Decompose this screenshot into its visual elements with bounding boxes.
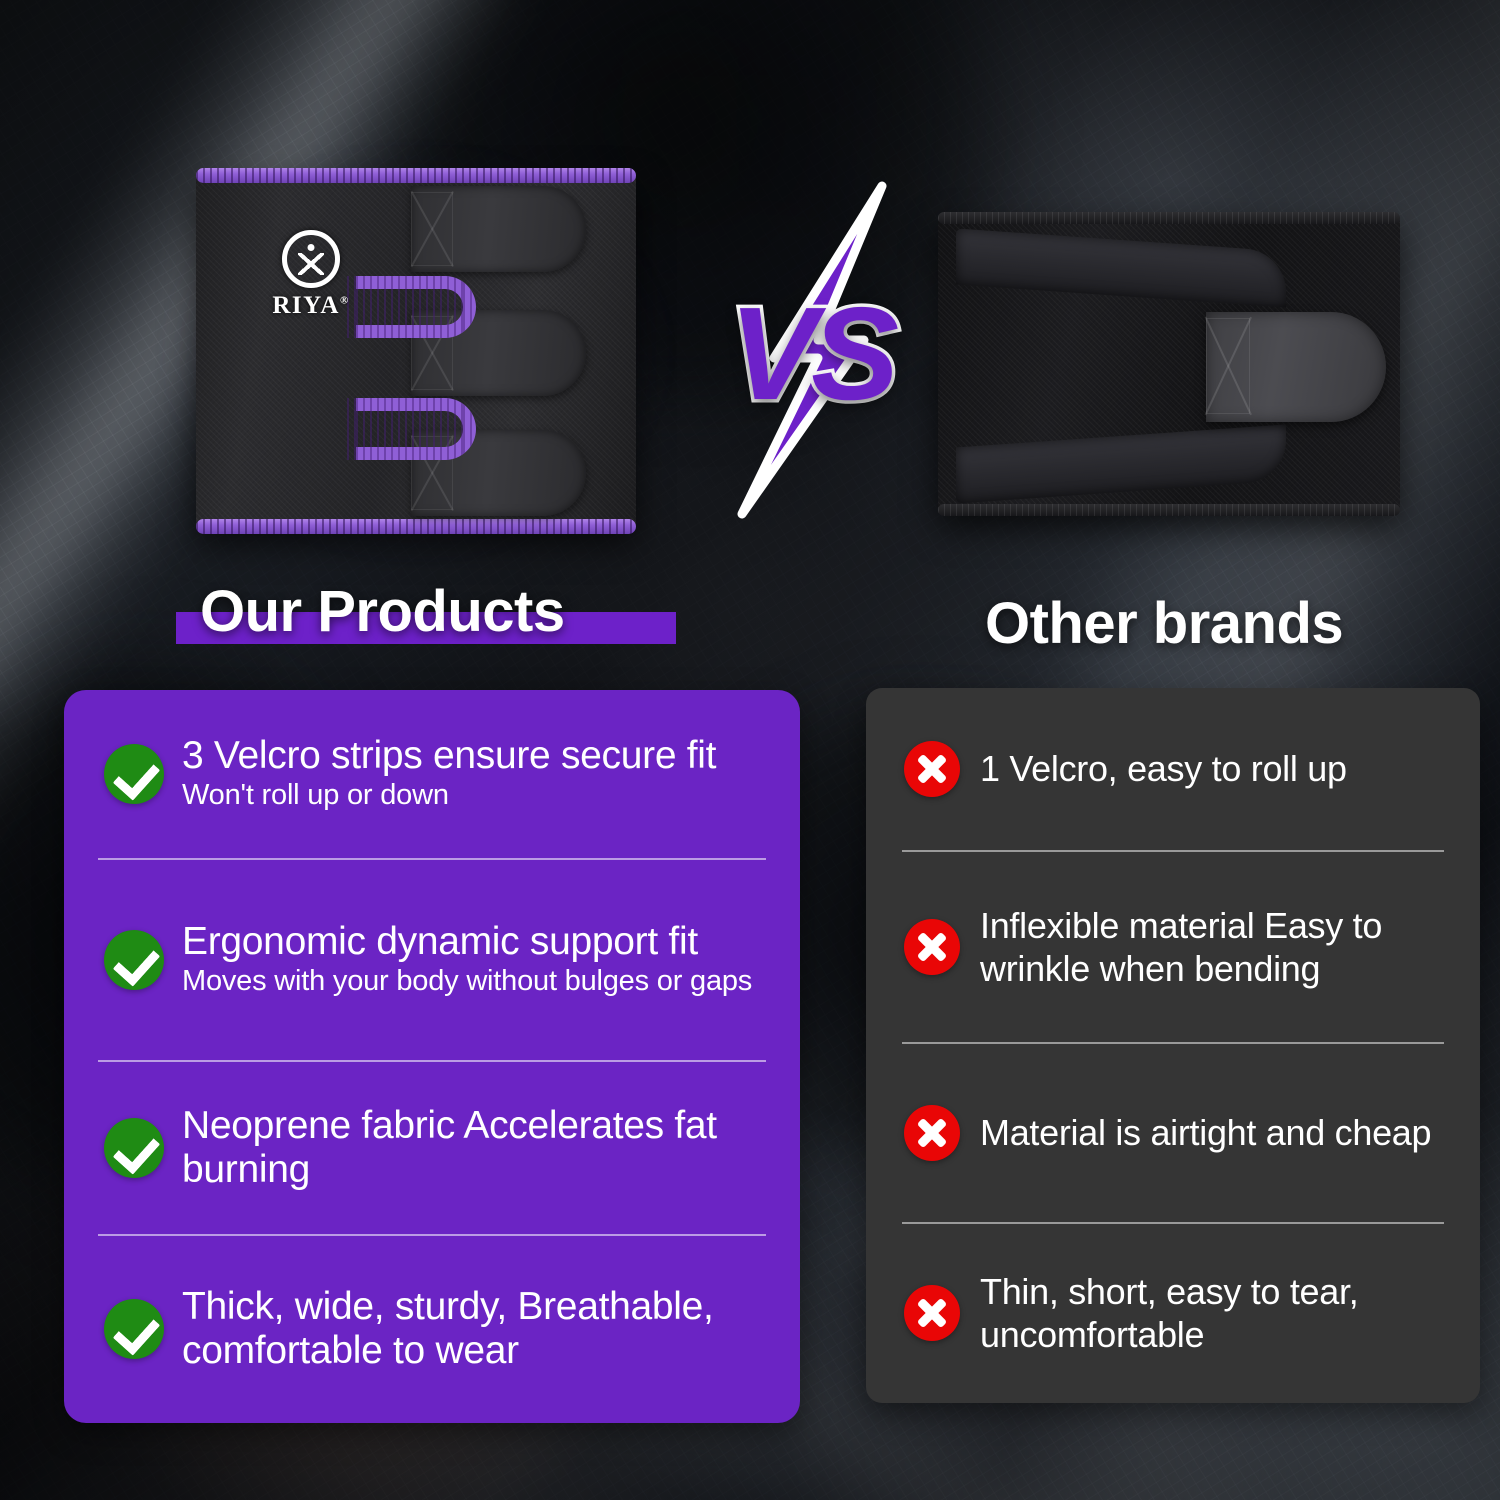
drawback-texts: Thin, short, easy to tear, uncomfortable <box>976 1270 1458 1356</box>
our-product-image: RIYA® <box>196 172 636 530</box>
feature-row: Ergonomic dynamic support fit Moves with… <box>90 860 774 1060</box>
x-icon <box>904 1285 960 1341</box>
other-belt-body <box>938 214 1400 514</box>
check-icon-wrap <box>90 1299 178 1359</box>
other-product-image <box>938 214 1400 514</box>
feature-row: 3 Velcro strips ensure secure fit Won't … <box>90 690 774 858</box>
x-icon-wrap <box>888 1105 976 1161</box>
check-icon <box>104 744 164 804</box>
drawback-row: Thin, short, easy to tear, uncomfortable <box>888 1224 1458 1402</box>
feature-texts: Ergonomic dynamic support fit Moves with… <box>178 920 774 999</box>
brand-name: RIYA® <box>268 292 354 320</box>
purple-trim-bottom <box>196 519 636 534</box>
feature-subtitle: Won't roll up or down <box>182 778 774 813</box>
our-products-panel: 3 Velcro strips ensure secure fit Won't … <box>64 690 800 1423</box>
feature-title: Ergonomic dynamic support fit <box>182 920 774 964</box>
product-comparison-row: RIYA® VS <box>0 0 1500 560</box>
other-brands-panel: 1 Velcro, easy to roll up Inflexible mat… <box>866 688 1480 1403</box>
x-icon <box>904 741 960 797</box>
feature-texts: Thick, wide, sturdy, Breathable, comfort… <box>178 1285 774 1373</box>
belt-body: RIYA® <box>196 172 636 530</box>
belt-edge-bottom <box>938 504 1400 516</box>
drawback-title: Thin, short, easy to tear, uncomfortable <box>980 1270 1458 1356</box>
drawback-title: Material is airtight and cheap <box>980 1111 1458 1154</box>
check-icon-wrap <box>90 930 178 990</box>
feature-title: Neoprene fabric Accelerates fat burning <box>182 1104 774 1192</box>
brand-superscript: ® <box>340 295 350 307</box>
feature-title: Thick, wide, sturdy, Breathable, comfort… <box>182 1285 774 1373</box>
drawback-title: Inflexible material Easy to wrinkle when… <box>980 904 1458 990</box>
velcro-strip <box>411 186 586 272</box>
feature-title: 3 Velcro strips ensure secure fit <box>182 734 774 778</box>
other-brands-heading: Other brands <box>985 590 1343 657</box>
x-icon <box>904 919 960 975</box>
feature-row: Neoprene fabric Accelerates fat burning <box>90 1062 774 1234</box>
feature-texts: 3 Velcro strips ensure secure fit Won't … <box>178 734 774 813</box>
drawback-texts: Material is airtight and cheap <box>976 1111 1458 1154</box>
check-icon <box>104 1299 164 1359</box>
vs-badge: VS <box>706 180 916 520</box>
check-icon-wrap <box>90 1118 178 1178</box>
check-icon <box>104 930 164 990</box>
x-stitch-icon <box>1206 318 1250 414</box>
purple-trim-top <box>196 168 636 183</box>
purple-loop <box>356 398 476 460</box>
vs-label: VS <box>706 288 916 420</box>
feature-texts: Neoprene fabric Accelerates fat burning <box>178 1104 774 1192</box>
feature-subtitle: Moves with your body without bulges or g… <box>182 964 774 999</box>
riya-figure-logo-icon <box>282 230 340 288</box>
x-icon-wrap <box>888 741 976 797</box>
drawback-row: Inflexible material Easy to wrinkle when… <box>888 852 1458 1042</box>
our-products-heading: Our Products <box>200 578 565 645</box>
x-icon-wrap <box>888 1285 976 1341</box>
drawback-texts: Inflexible material Easy to wrinkle when… <box>976 904 1458 990</box>
brand-logo: RIYA® <box>268 230 354 326</box>
x-stitch-icon <box>411 192 453 266</box>
feature-row: Thick, wide, sturdy, Breathable, comfort… <box>90 1236 774 1422</box>
drawback-row: 1 Velcro, easy to roll up <box>888 688 1458 850</box>
drawback-title: 1 Velcro, easy to roll up <box>980 747 1458 790</box>
x-icon-wrap <box>888 919 976 975</box>
purple-loop <box>356 276 476 338</box>
x-icon <box>904 1105 960 1161</box>
check-icon-wrap <box>90 744 178 804</box>
check-icon <box>104 1118 164 1178</box>
velcro-strip <box>1206 312 1386 422</box>
drawback-texts: 1 Velcro, easy to roll up <box>976 747 1458 790</box>
drawback-row: Material is airtight and cheap <box>888 1044 1458 1222</box>
belt-edge-top <box>938 212 1400 224</box>
